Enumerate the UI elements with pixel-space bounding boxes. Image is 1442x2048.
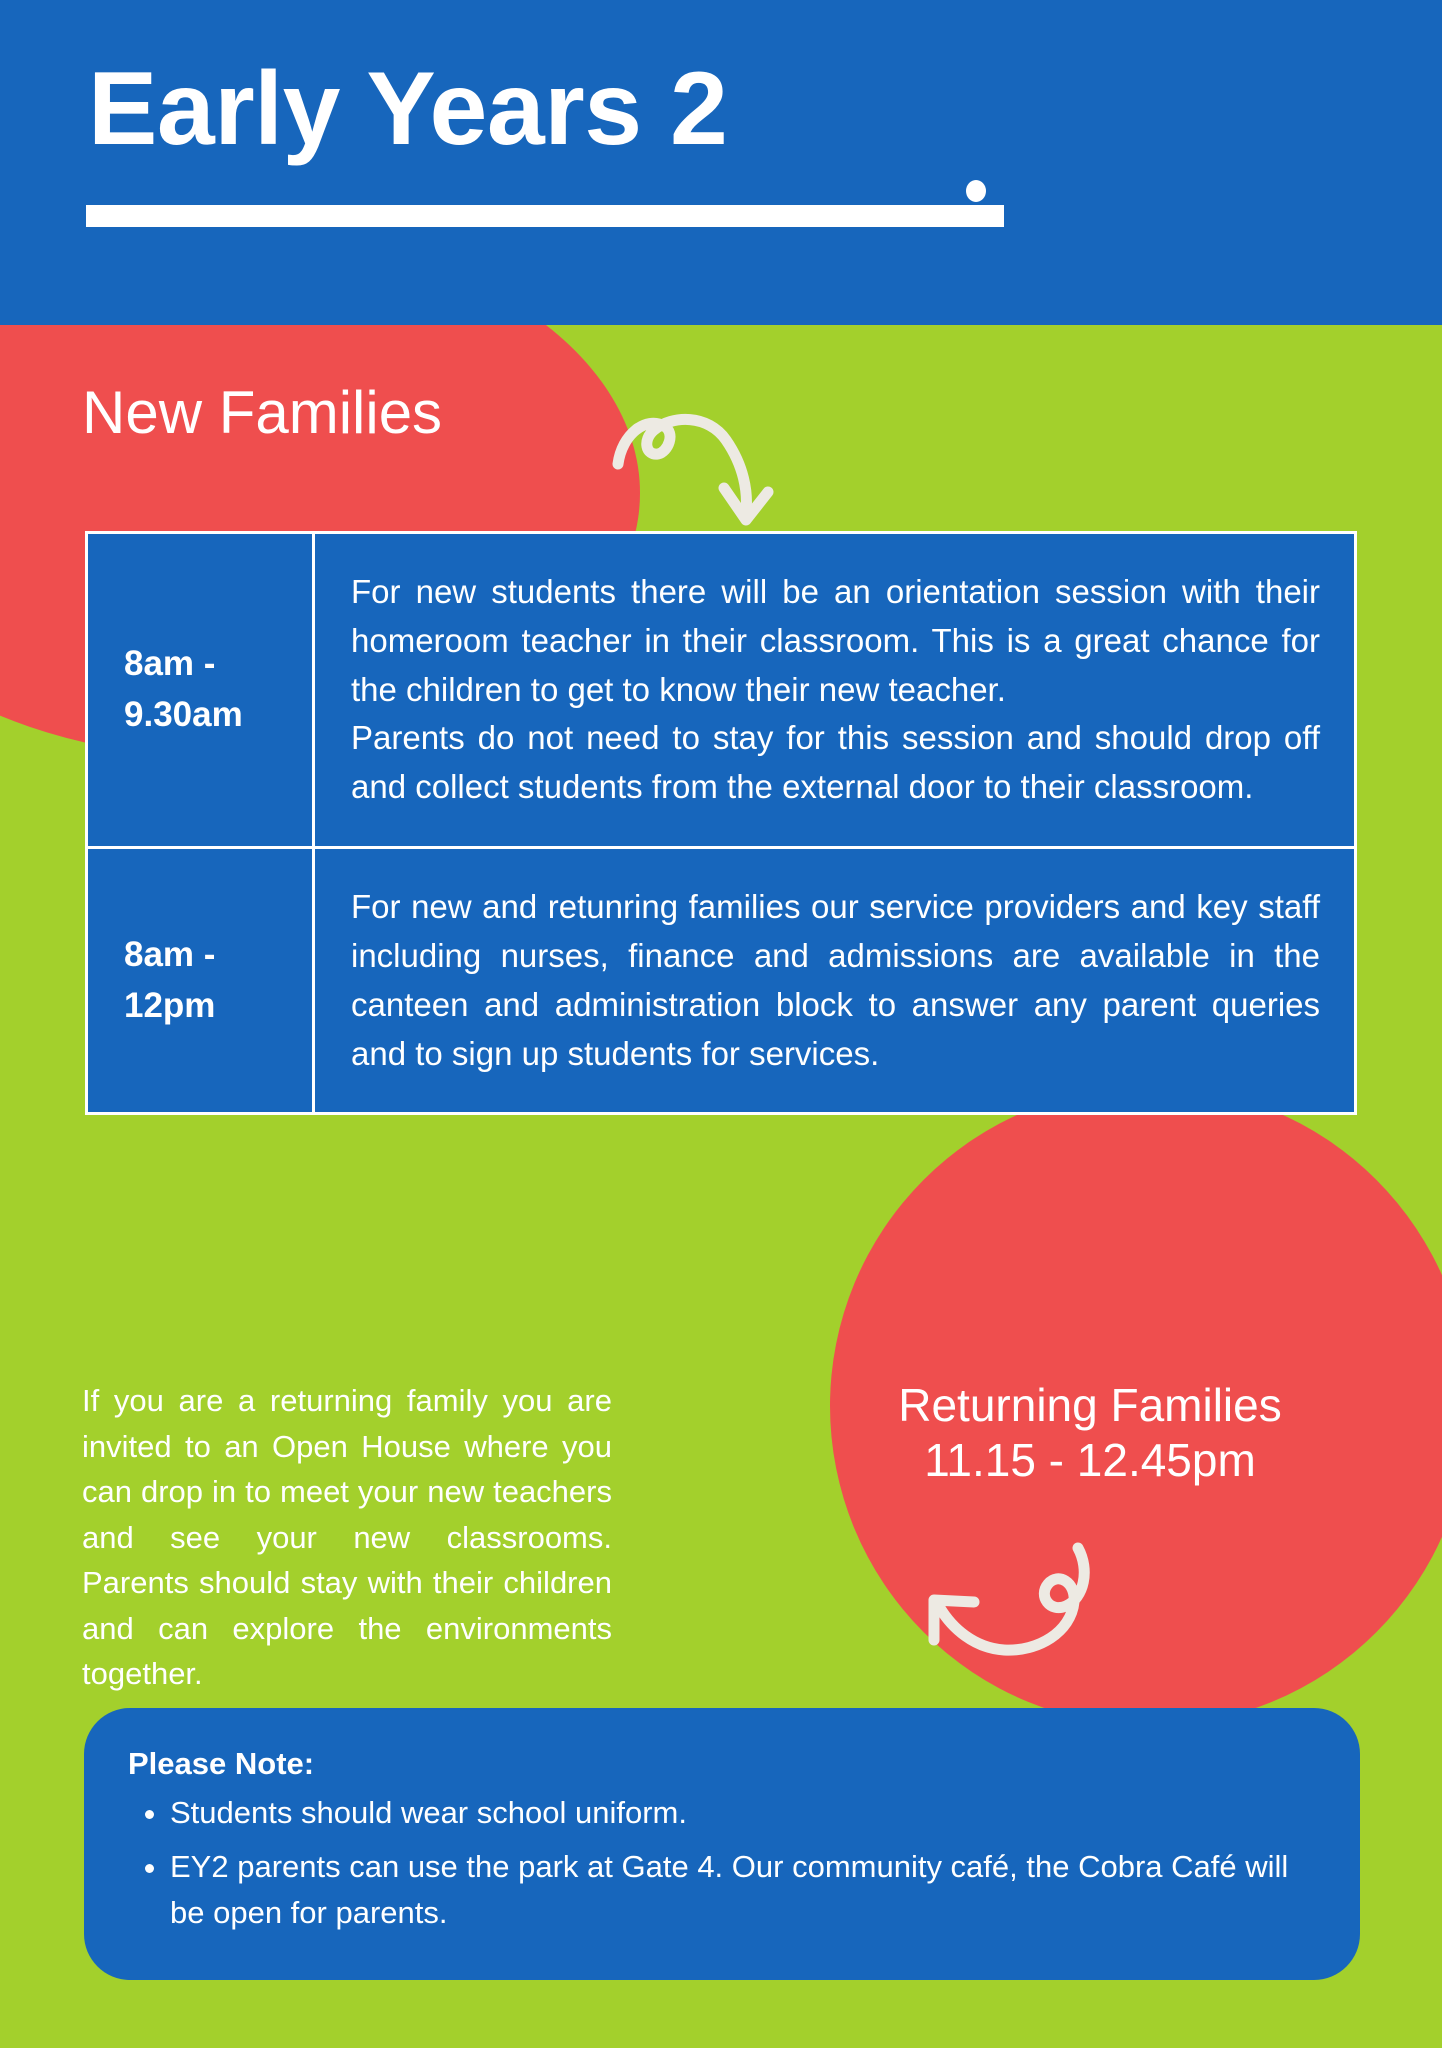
returning-families-title: Returning Families [820, 1378, 1360, 1433]
title-underline-rule [86, 205, 1004, 227]
header-band: Early Years 2 [0, 0, 1442, 325]
page-title: Early Years 2 [88, 55, 727, 164]
schedule-paragraph: For new and retunring families our servi… [351, 883, 1320, 1078]
returning-families-block: Returning Families 11.15 - 12.45pm [820, 1378, 1360, 1488]
curly-arrow-down-icon [612, 400, 792, 530]
please-note-list: Students should wear school uniform. EY2… [128, 1790, 1316, 1936]
schedule-description-cell: For new students there will be an orient… [315, 534, 1354, 846]
schedule-time-cell: 8am - 9.30am [88, 534, 315, 846]
curly-arrow-left-icon [900, 1540, 1130, 1680]
please-note-title: Please Note: [128, 1746, 1316, 1782]
open-house-paragraph: If you are a returning family you are in… [82, 1378, 612, 1697]
list-item: Students should wear school uniform. [170, 1790, 1316, 1836]
schedule-description-cell: For new and retunring families our servi… [315, 849, 1354, 1112]
new-families-heading: New Families [82, 378, 442, 447]
schedule-table: 8am - 9.30am For new students there will… [85, 531, 1357, 1115]
schedule-paragraph: For new students there will be an orient… [351, 568, 1320, 714]
schedule-paragraph: Parents do not need to stay for this ses… [351, 714, 1320, 812]
table-row: 8am - 9.30am For new students there will… [88, 534, 1354, 849]
please-note-box: Please Note: Students should wear school… [84, 1708, 1360, 1980]
dot-icon [966, 180, 986, 202]
table-row: 8am - 12pm For new and retunring familie… [88, 849, 1354, 1112]
poster-canvas: Early Years 2 New Families 8am - 9.30am … [0, 0, 1442, 2048]
list-item: EY2 parents can use the park at Gate 4. … [170, 1844, 1316, 1936]
returning-families-time: 11.15 - 12.45pm [820, 1433, 1360, 1488]
schedule-time-cell: 8am - 12pm [88, 849, 315, 1112]
